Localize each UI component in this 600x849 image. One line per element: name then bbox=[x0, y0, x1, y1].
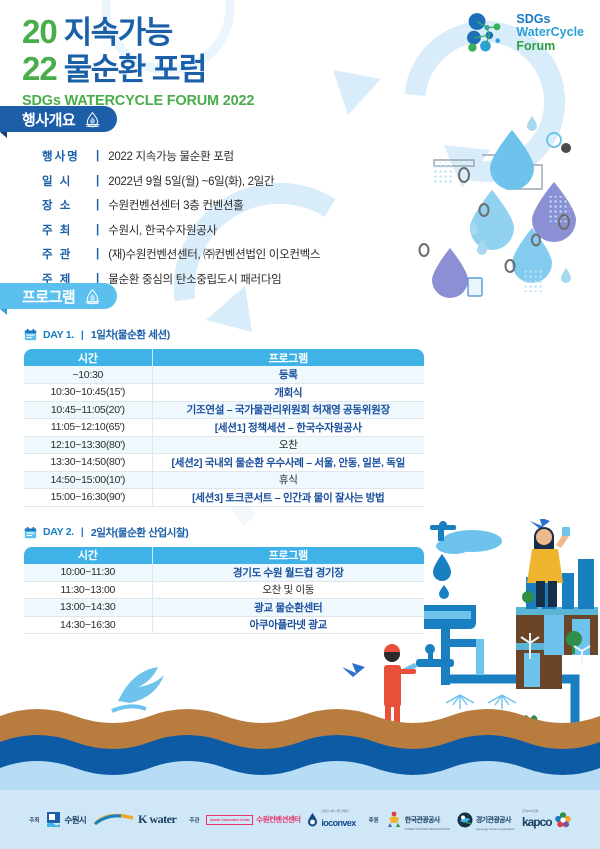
overview-row: 일 시 | 2022년 9월 5일(월) ~6일(화), 2일간 bbox=[42, 173, 600, 189]
logo-kwater: K water bbox=[93, 812, 176, 827]
overview-label: 주 최 bbox=[42, 222, 96, 238]
title-row-bottom: 22 물순환 포럼 bbox=[22, 51, 254, 88]
day2-schedule-table: 시간 프로그램 10:00~11:30 경기도 수원 월드컵 경기장 11:30… bbox=[24, 547, 424, 635]
table-row: 10:30~10:45(15') 개회식 bbox=[24, 384, 424, 402]
overview-row: 행사명 | 2022 지속가능 물순환 포럼 bbox=[42, 148, 600, 164]
table-row: 13:30~14:50(80') [세션2] 국내외 물순환 우수사례 – 서울… bbox=[24, 454, 424, 472]
footer-tag-organizer: 주관 bbox=[189, 816, 199, 824]
program-badge: 프로그램 bbox=[0, 283, 117, 309]
wave-decoration bbox=[0, 700, 600, 790]
logo-gto-text: 경기관광공사 Gyeonggi Tourism Organization bbox=[476, 809, 515, 831]
overview-row: 장 소 | 수원컨벤션센터 3층 컨벤션홀 bbox=[42, 197, 600, 213]
sdgs-watercycle-mark-icon bbox=[464, 10, 510, 56]
footer-logos: 주최 수원시 K water 주관 Suwon Conv bbox=[0, 790, 600, 849]
overview-divider: | bbox=[96, 199, 99, 211]
cell-time: 13:30~14:50(80') bbox=[24, 454, 152, 472]
table-row: 13:00~14:30 광교 물순환센터 bbox=[24, 599, 424, 617]
overview-section: 행사개요 행사명 | 2022 지속가능 물순환 포럼 일 시 | 2022년 … bbox=[0, 106, 600, 295]
logo-korea-tourism: 한국관광공사 KOREA TOURISM ORGANIZATION bbox=[386, 809, 450, 831]
cell-program: [세션3] 토크콘서트 – 인간과 물이 잘사는 방법 bbox=[152, 489, 424, 507]
column-header-time: 시간 bbox=[24, 349, 152, 366]
overview-badge-label: 행사개요 bbox=[22, 109, 75, 130]
table-row: 12:10~13:30(80') 오찬 bbox=[24, 436, 424, 454]
cell-program: 오찬 및 이동 bbox=[152, 581, 424, 599]
title-korean-bottom: 물순환 포럼 bbox=[64, 53, 206, 88]
logo-kapco-text: 한국PCO협회 kapco bbox=[522, 809, 552, 831]
sdgs-logo-line2: WaterCycle bbox=[516, 26, 584, 40]
overview-value: 수원컨벤션센터 3층 컨벤션홀 bbox=[108, 197, 243, 213]
ioconvex-drop-icon bbox=[307, 812, 318, 827]
overview-row: 주 최 | 수원시, 한국수자원공사 bbox=[42, 222, 600, 238]
table-row: ~10:30 등록 bbox=[24, 366, 424, 384]
poster-root: SDGs WaterCycle Forum 20 지속가능 22 물순환 포럼 … bbox=[0, 0, 600, 849]
table-row: 11:30~13:00 오찬 및 이동 bbox=[24, 581, 424, 599]
cell-time: 11:30~13:00 bbox=[24, 581, 152, 599]
logo-kto-label: 한국관광공사 bbox=[405, 817, 440, 824]
title-year-bottom: 22 bbox=[22, 51, 57, 88]
logo-gto-sub: Gyeonggi Tourism Organization bbox=[476, 827, 515, 831]
sdgs-logo-line3: Forum bbox=[516, 40, 584, 54]
column-header-time: 시간 bbox=[24, 547, 152, 564]
day2-label: DAY 2. bbox=[43, 526, 74, 538]
table-row: 14:50~15:00(10') 휴식 bbox=[24, 471, 424, 489]
cell-time: 11:05~12:10(65') bbox=[24, 419, 152, 437]
poster-title: 20 지속가능 22 물순환 포럼 SDGs WATERCYCLE FORUM … bbox=[22, 14, 254, 109]
cell-time: ~10:30 bbox=[24, 366, 152, 384]
water-drop-icon bbox=[84, 111, 101, 128]
suwon-city-icon bbox=[46, 811, 61, 828]
day1-header: DAY 1. | 1일차(물순환 세션) bbox=[24, 327, 600, 342]
overview-value: 수원시, 한국수자원공사 bbox=[108, 222, 217, 238]
logo-ioconvex-sub: 전문전시회 기업 컨벤션 bbox=[321, 809, 355, 813]
cell-program: 아쿠아플라넷 광교 bbox=[152, 616, 424, 634]
overview-label: 행사명 bbox=[42, 148, 96, 164]
footer-group-sponsor: 후원 한국관광공사 KOREA TOURISM ORGANIZATION bbox=[369, 809, 571, 831]
footer-group-organizer: 주관 Suwon Convention Center 수원컨벤션센터 전문전시회… bbox=[189, 809, 355, 831]
day1-label: DAY 1. bbox=[43, 329, 74, 341]
overview-label: 주 관 bbox=[42, 246, 96, 262]
cell-program: 휴식 bbox=[152, 471, 424, 489]
program-badge-label: 프로그램 bbox=[22, 286, 75, 307]
gyeonggi-tourism-icon bbox=[457, 812, 473, 828]
footer-tag-sponsor: 후원 bbox=[369, 816, 379, 824]
logo-kwater-label: K water bbox=[138, 812, 176, 827]
table-row: 11:05~12:10(65') [세션1] 정책세션 – 한국수자원공사 bbox=[24, 419, 424, 437]
logo-suwon-convention-center: Suwon Convention Center 수원컨벤션센터 bbox=[206, 814, 300, 825]
program-section: 프로그램 DAY 1. | 1일차(물순환 세션) bbox=[0, 283, 600, 634]
calendar-icon bbox=[24, 328, 37, 341]
logo-ioconvex: 전문전시회 기업 컨벤션 ioconvex bbox=[307, 809, 355, 831]
day1-schedule-table: 시간 프로그램 ~10:30 등록 10:30~10:45(15') 개회식 1… bbox=[24, 349, 424, 507]
sdgs-logo-text: SDGs WaterCycle Forum bbox=[516, 13, 584, 54]
logo-scc-mark: Suwon Convention Center bbox=[206, 815, 253, 825]
table-header-row: 시간 프로그램 bbox=[24, 349, 424, 366]
day2-header: DAY 2. | 2일차(물순환 산업시찰) bbox=[24, 525, 600, 540]
logo-suwon-city-label: 수원시 bbox=[64, 814, 86, 826]
logo-kapco-sub: 한국PCO협회 bbox=[522, 809, 552, 813]
logo-kto-text: 한국관광공사 KOREA TOURISM ORGANIZATION bbox=[405, 809, 450, 831]
overview-value: 2022 지속가능 물순환 포럼 bbox=[108, 148, 234, 164]
overview-divider: | bbox=[96, 150, 99, 162]
logo-kapco: 한국PCO협회 kapco bbox=[522, 809, 571, 831]
cell-program: [세션1] 정책세션 – 한국수자원공사 bbox=[152, 419, 424, 437]
table-row: 10:45~11:05(20') 기조연설 – 국가물관리위원회 허재영 공동위… bbox=[24, 401, 424, 419]
logo-gto-label: 경기관광공사 bbox=[476, 817, 511, 824]
cell-program: 개회식 bbox=[152, 384, 424, 402]
day2-separator: | bbox=[81, 526, 84, 538]
cell-time: 10:30~10:45(15') bbox=[24, 384, 152, 402]
title-row-top: 20 지속가능 bbox=[22, 14, 254, 51]
cell-program: [세션2] 국내외 물순환 우수사례 – 서울, 안동, 일본, 독일 bbox=[152, 454, 424, 472]
calendar-icon bbox=[24, 526, 37, 539]
day1-title: 1일차(물순환 세션) bbox=[91, 327, 170, 342]
logo-kapco-label: kapco bbox=[522, 815, 552, 829]
sdgs-logo-line1: SDGs bbox=[516, 13, 584, 27]
kwater-arc-icon bbox=[93, 813, 135, 826]
logo-scc-label: 수원컨벤션센터 bbox=[256, 814, 300, 825]
logo-gyeonggi-tourism: 경기관광공사 Gyeonggi Tourism Organization bbox=[457, 809, 515, 831]
overview-list: 행사명 | 2022 지속가능 물순환 포럼 일 시 | 2022년 9월 5일… bbox=[42, 148, 600, 287]
column-header-program: 프로그램 bbox=[152, 547, 424, 564]
footer-group-host: 주최 수원시 K water bbox=[29, 811, 176, 828]
logo-ioconvex-label: ioconvex bbox=[321, 818, 355, 828]
column-header-program: 프로그램 bbox=[152, 349, 424, 366]
cell-program: 기조연설 – 국가물관리위원회 허재영 공동위원장 bbox=[152, 401, 424, 419]
logo-ioconvex-text: 전문전시회 기업 컨벤션 ioconvex bbox=[321, 809, 355, 831]
cell-program: 등록 bbox=[152, 366, 424, 384]
table-row: 15:00~16:30(90') [세션3] 토크콘서트 – 인간과 물이 잘사… bbox=[24, 489, 424, 507]
table-header-row: 시간 프로그램 bbox=[24, 547, 424, 564]
cell-time: 10:00~11:30 bbox=[24, 564, 152, 582]
overview-divider: | bbox=[96, 248, 99, 260]
overview-divider: | bbox=[96, 175, 99, 187]
day1-separator: | bbox=[81, 329, 84, 341]
table-row: 14:30~16:30 아쿠아플라넷 광교 bbox=[24, 616, 424, 634]
overview-value: 2022년 9월 5일(월) ~6일(화), 2일간 bbox=[108, 173, 274, 189]
sdgs-watercycle-logo: SDGs WaterCycle Forum bbox=[464, 10, 584, 56]
overview-badge: 행사개요 bbox=[0, 106, 117, 132]
kapco-flower-icon bbox=[555, 812, 571, 828]
overview-row: 주 관 | (재)수원컨벤션센터, ㈜컨벤션법인 이오컨벡스 bbox=[42, 246, 600, 262]
overview-label: 장 소 bbox=[42, 197, 96, 213]
overview-label: 일 시 bbox=[42, 173, 96, 189]
title-korean-top: 지속가능 bbox=[64, 16, 172, 51]
logo-kto-sub: KOREA TOURISM ORGANIZATION bbox=[405, 827, 450, 831]
water-drop-icon bbox=[84, 288, 101, 305]
table-row: 10:00~11:30 경기도 수원 월드컵 경기장 bbox=[24, 564, 424, 582]
logo-suwon-city: 수원시 bbox=[46, 811, 86, 828]
cell-program: 경기도 수원 월드컵 경기장 bbox=[152, 564, 424, 582]
day2-title: 2일차(물순환 산업시찰) bbox=[91, 525, 189, 540]
overview-divider: | bbox=[96, 224, 99, 236]
cell-program: 광교 물순환센터 bbox=[152, 599, 424, 617]
cell-time: 14:30~16:30 bbox=[24, 616, 152, 634]
overview-value: (재)수원컨벤션센터, ㈜컨벤션법인 이오컨벡스 bbox=[108, 246, 320, 262]
cell-time: 14:50~15:00(10') bbox=[24, 471, 152, 489]
korea-tourism-icon bbox=[386, 811, 402, 828]
cell-time: 10:45~11:05(20') bbox=[24, 401, 152, 419]
title-year-top: 20 bbox=[22, 14, 57, 51]
cell-time: 13:00~14:30 bbox=[24, 599, 152, 617]
cell-time: 15:00~16:30(90') bbox=[24, 489, 152, 507]
cell-program: 오찬 bbox=[152, 436, 424, 454]
cell-time: 12:10~13:30(80') bbox=[24, 436, 152, 454]
footer-tag-host: 주최 bbox=[29, 816, 39, 824]
